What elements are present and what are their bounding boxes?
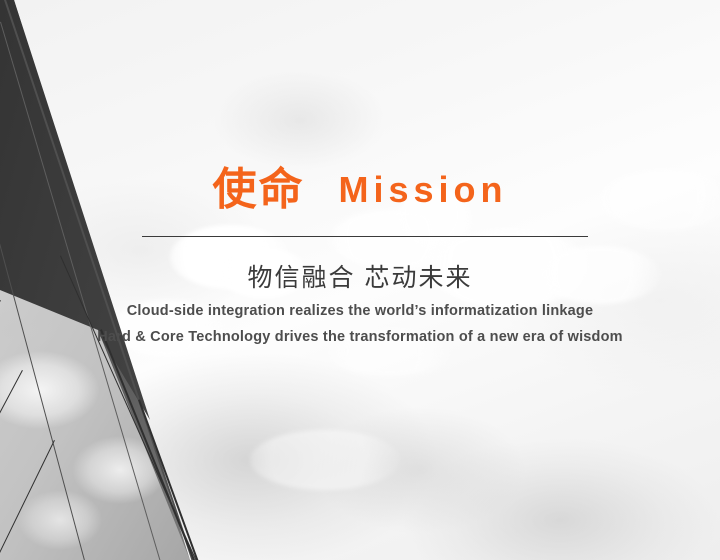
banner-headline: 使命Mission <box>0 168 720 212</box>
headline-divider <box>142 236 588 237</box>
subtitle-chinese: 物信融合 芯动未来 <box>0 258 720 294</box>
headline-chinese: 使命 <box>212 165 304 214</box>
description-line-1: Cloud-side integration realizes the worl… <box>0 303 720 319</box>
banner-content: 使命Mission 物信融合 芯动未来 Cloud-side integrati… <box>0 0 720 560</box>
headline-english: Mission <box>338 169 507 210</box>
mission-banner: 使命Mission 物信融合 芯动未来 Cloud-side integrati… <box>0 0 720 560</box>
description-line-2: Hard & Core Technology drives the transf… <box>0 329 720 345</box>
